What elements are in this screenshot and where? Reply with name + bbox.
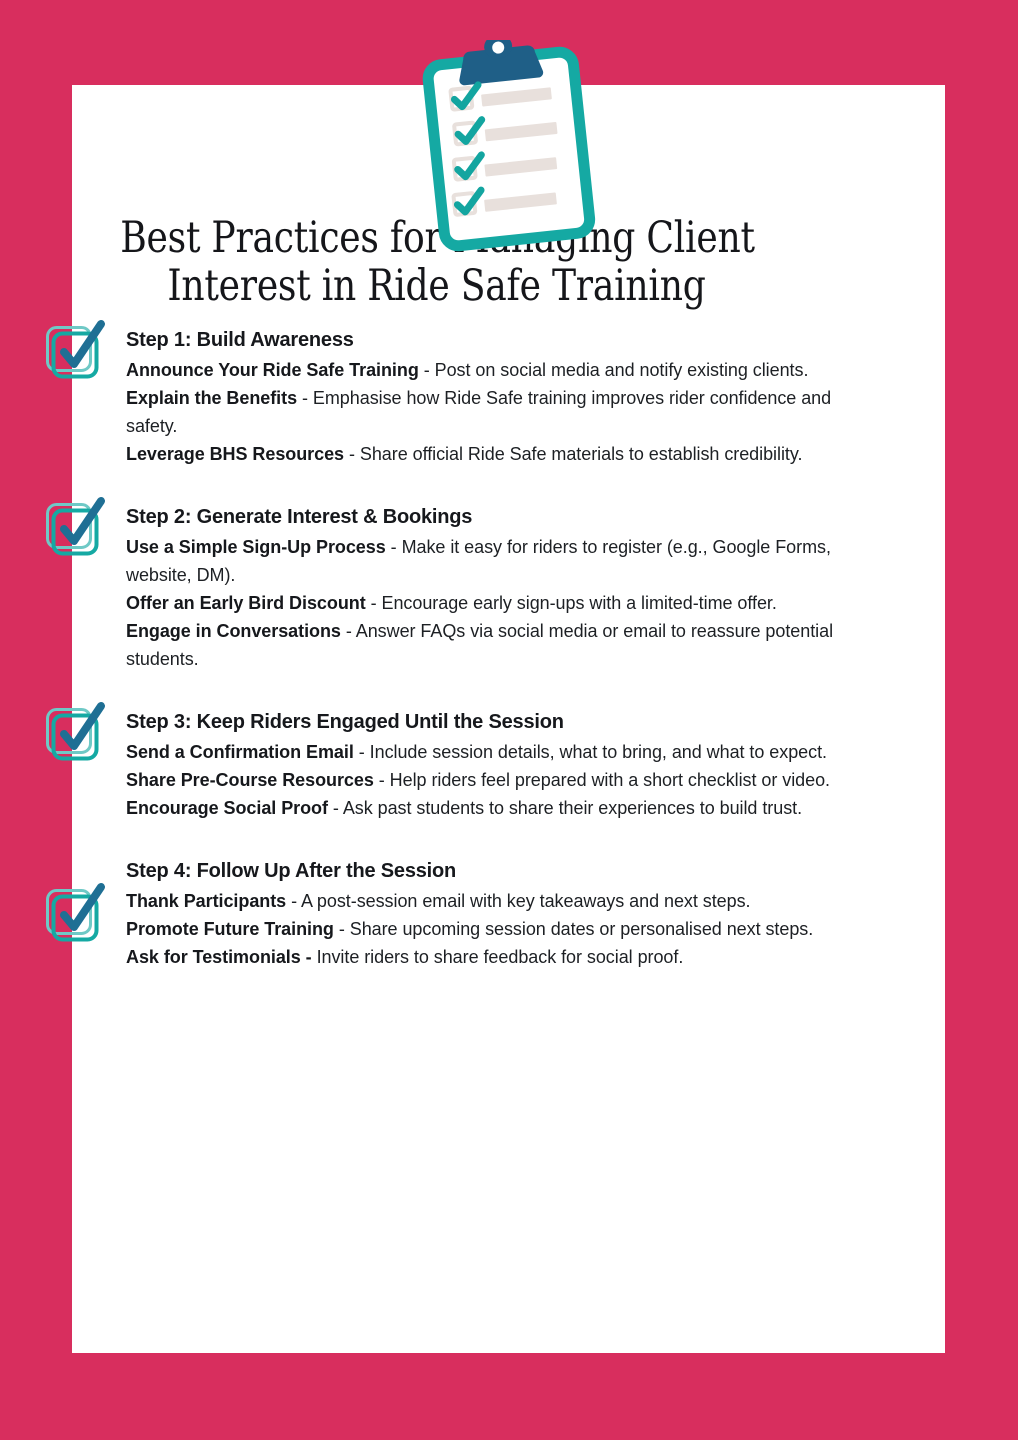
bullet-text: Share official Ride Safe materials to es…: [360, 444, 803, 464]
bullet-term: Leverage BHS Resources: [126, 444, 344, 464]
step-body: Step 2: Generate Interest & Bookings Use…: [126, 502, 873, 673]
step-block: Step 3: Keep Riders Engaged Until the Se…: [0, 707, 873, 822]
bullet-sep: -: [344, 444, 360, 464]
bullet-sep: -: [286, 891, 301, 911]
step-block: Step 4: Follow Up After the Session Than…: [0, 856, 873, 971]
bullet-sep: -: [366, 593, 382, 613]
clipboard-checklist-icon: [409, 40, 609, 255]
step-body: Step 1: Build Awareness Announce Your Ri…: [126, 325, 873, 468]
bullet-text: Help riders feel prepared with a short c…: [390, 770, 830, 790]
step-block: Step 1: Build Awareness Announce Your Ri…: [0, 325, 873, 468]
bullet-text: A post-session email with key takeaways …: [301, 891, 750, 911]
bullet-text: Post on social media and notify existing…: [435, 360, 809, 380]
bullet-sep: -: [354, 742, 370, 762]
step-bullet: Engage in Conversations - Answer FAQs vi…: [126, 617, 869, 673]
bullet-sep: -: [297, 388, 313, 408]
step-heading: Step 3: Keep Riders Engaged Until the Se…: [126, 707, 869, 737]
step-bullet: Explain the Benefits - Emphasise how Rid…: [126, 384, 869, 440]
bullet-term: Use a Simple Sign-Up Process: [126, 537, 386, 557]
step-body: Step 3: Keep Riders Engaged Until the Se…: [126, 707, 873, 822]
checkbox-checked-icon: [44, 882, 106, 944]
step-heading: Step 4: Follow Up After the Session: [126, 856, 869, 886]
bullet-sep: -: [419, 360, 435, 380]
bullet-term: Ask for Testimonials -: [126, 947, 312, 967]
step-bullet: Share Pre-Course Resources - Help riders…: [126, 766, 869, 794]
step-heading: Step 1: Build Awareness: [126, 325, 869, 355]
step-bullet: Leverage BHS Resources - Share official …: [126, 440, 869, 468]
bullet-term: Explain the Benefits: [126, 388, 297, 408]
bullet-sep: -: [386, 537, 402, 557]
bullet-sep: -: [341, 621, 356, 641]
title-line-2: Interest in Ride Safe Training: [120, 262, 753, 310]
checkbox-checked-icon: [44, 496, 106, 558]
bullet-term: Promote Future Training: [126, 919, 334, 939]
step-bullet: Announce Your Ride Safe Training - Post …: [126, 356, 869, 384]
bullet-term: Announce Your Ride Safe Training: [126, 360, 419, 380]
bullet-text: Include session details, what to bring, …: [370, 742, 827, 762]
step-bullet: Send a Confirmation Email - Include sess…: [126, 738, 869, 766]
steps-list: Step 1: Build Awareness Announce Your Ri…: [0, 325, 873, 971]
bullet-sep: -: [328, 798, 343, 818]
bullet-term: Share Pre-Course Resources: [126, 770, 374, 790]
step-block: Step 2: Generate Interest & Bookings Use…: [0, 502, 873, 673]
bullet-text: Ask past students to share their experie…: [343, 798, 802, 818]
bullet-text: Share upcoming session dates or personal…: [350, 919, 813, 939]
checkbox-checked-icon: [44, 319, 106, 381]
step-bullet: Ask for Testimonials - Invite riders to …: [126, 943, 869, 971]
step-bullet: Promote Future Training - Share upcoming…: [126, 915, 869, 943]
step-bullet: Thank Participants - A post-session emai…: [126, 887, 869, 915]
bullet-sep: -: [374, 770, 390, 790]
bullet-term: Offer an Early Bird Discount: [126, 593, 366, 613]
bullet-term: Engage in Conversations: [126, 621, 341, 641]
bullet-term: Thank Participants: [126, 891, 286, 911]
bullet-term: Send a Confirmation Email: [126, 742, 354, 762]
checkbox-checked-icon: [44, 701, 106, 763]
bullet-term: Encourage Social Proof: [126, 798, 328, 818]
step-bullet: Encourage Social Proof - Ask past studen…: [126, 794, 869, 822]
bullet-text: Invite riders to share feedback for soci…: [317, 947, 684, 967]
step-body: Step 4: Follow Up After the Session Than…: [126, 856, 873, 971]
bullet-sep: -: [334, 919, 350, 939]
step-bullet: Offer an Early Bird Discount - Encourage…: [126, 589, 869, 617]
bullet-text: Encourage early sign-ups with a limited-…: [382, 593, 777, 613]
step-bullet: Use a Simple Sign-Up Process - Make it e…: [126, 533, 869, 589]
step-heading: Step 2: Generate Interest & Bookings: [126, 502, 869, 532]
poster-root: Best Practices for Managing Client Inter…: [0, 0, 1018, 1440]
